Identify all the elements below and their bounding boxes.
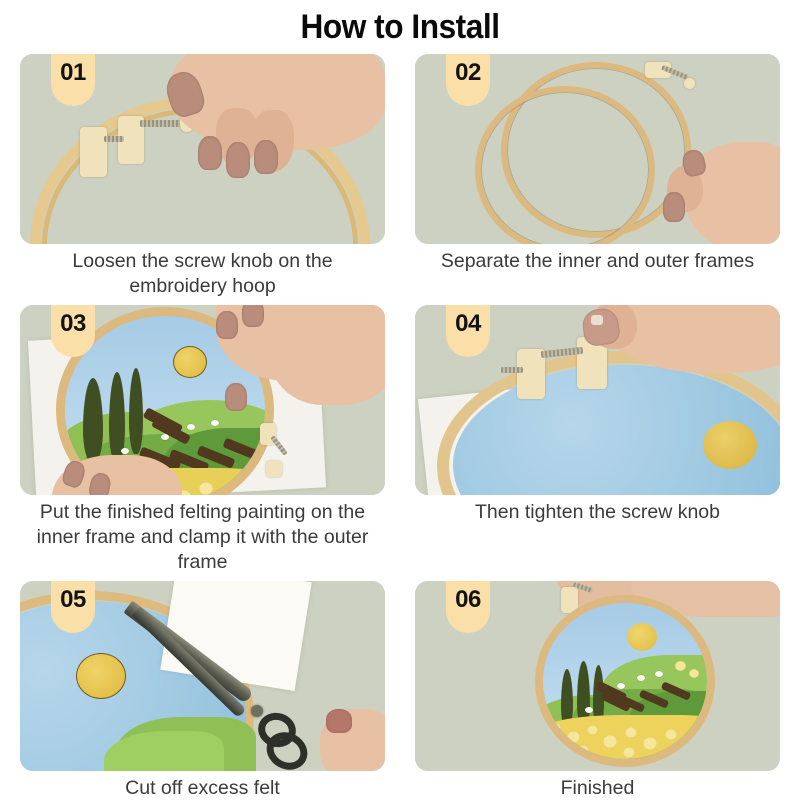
step-caption-05: Cut off excess felt	[20, 771, 385, 800]
step-card-03: 03 Put the finished felting painting on …	[20, 305, 385, 575]
steps-grid: 01 Loosen the screw knob on the embroide…	[0, 50, 800, 800]
step-badge-05: 05	[51, 581, 95, 633]
page-title: How to Install	[28, 0, 772, 50]
step-number-05: 05	[60, 587, 86, 613]
step-badge-02: 02	[446, 54, 490, 106]
step-caption-01: Loosen the screw knob on the embroidery …	[20, 244, 385, 299]
step-caption-02: Separate the inner and outer frames	[415, 244, 780, 296]
step-card-05: 05 Cut off excess felt	[20, 581, 385, 800]
step-card-04: 04 Then tighten the screw knob	[415, 305, 780, 575]
step-number-06: 06	[455, 587, 481, 613]
step-card-01: 01 Loosen the screw knob on the embroide…	[20, 54, 385, 299]
infographic-page: How to Install	[0, 0, 800, 800]
step-badge-06: 06	[446, 581, 490, 633]
step-caption-03: Put the finished felting painting on the…	[20, 495, 385, 575]
step-number-04: 04	[455, 311, 481, 337]
step-card-06: 06 Finished	[415, 581, 780, 800]
step-photo-03: 03	[20, 305, 385, 495]
step-badge-01: 01	[51, 54, 95, 106]
step-badge-03: 03	[51, 305, 95, 357]
step-caption-04: Then tighten the screw knob	[415, 495, 780, 547]
step-photo-02: 02	[415, 54, 780, 244]
step-photo-05: 05	[20, 581, 385, 771]
step-photo-04: 04	[415, 305, 780, 495]
step-photo-06: 06	[415, 581, 780, 771]
step-card-02: 02 Separate the inner and outer frames	[415, 54, 780, 299]
step-photo-01: 01	[20, 54, 385, 244]
felt-artwork-06	[543, 603, 707, 759]
step-number-02: 02	[455, 60, 481, 86]
step-caption-06: Finished	[415, 771, 780, 800]
step-number-01: 01	[60, 60, 86, 86]
step-number-03: 03	[60, 311, 86, 337]
step-badge-04: 04	[446, 305, 490, 357]
